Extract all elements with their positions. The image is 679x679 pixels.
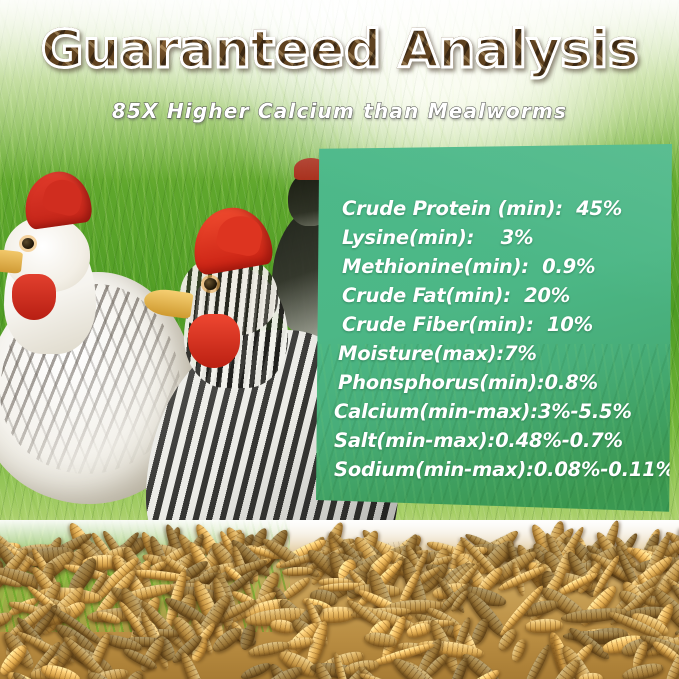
- analysis-line: Calcium(min-max):3%-5.5%: [316, 397, 672, 426]
- barred-hen-wattle: [188, 314, 240, 368]
- analysis-line: Crude Protein (min): 45%: [316, 194, 672, 223]
- analysis-line: Crude Fiber(min): 10%: [316, 310, 672, 339]
- larva: [240, 660, 274, 679]
- barred-hen-beak: [142, 287, 193, 319]
- analysis-line: Moisture(max):7%: [316, 339, 672, 368]
- analysis-line: Lysine(min): 3%: [316, 223, 672, 252]
- product-infographic-poster: Guaranteed Analysis 85X Higher Calcium t…: [0, 0, 679, 679]
- larva: [524, 618, 563, 634]
- white-hen-eye: [22, 238, 34, 249]
- analysis-line: Sodium(min-max):0.08%-0.11%: [316, 455, 672, 484]
- white-hen-wattle: [12, 274, 56, 320]
- barred-hen-eye: [204, 278, 217, 290]
- analysis-line: Salt(min-max):0.48%-0.7%: [316, 426, 672, 455]
- dried-larvae-photo: [0, 520, 679, 679]
- analysis-line-list: Crude Protein (min): 45%Lysine(min): 3%M…: [316, 144, 672, 514]
- larva: [621, 660, 665, 679]
- analysis-line: Methionine(min): 0.9%: [316, 252, 672, 281]
- analysis-line: Phonsphorus(min):0.8%: [316, 368, 672, 397]
- guaranteed-analysis-panel: Crude Protein (min): 45%Lysine(min): 3%M…: [316, 144, 672, 514]
- white-hen-beak: [0, 248, 23, 274]
- analysis-line: Crude Fat(min): 20%: [316, 281, 672, 310]
